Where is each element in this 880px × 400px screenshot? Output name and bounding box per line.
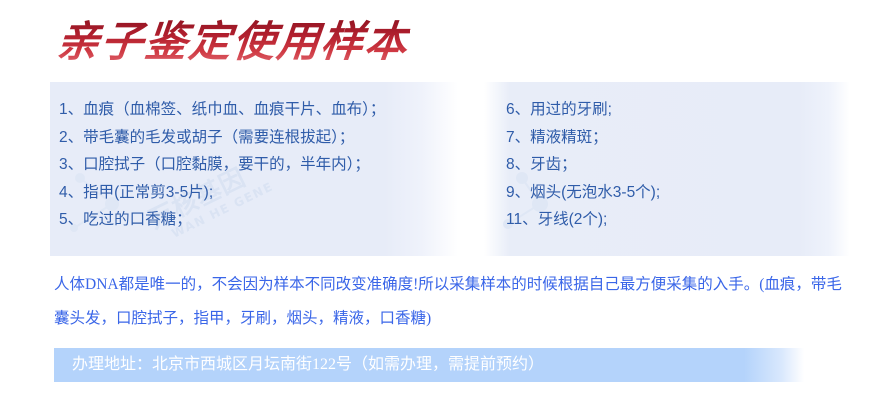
list-item: 7、精液精斑； xyxy=(506,124,850,152)
list-item: 2、带毛囊的毛发或胡子（需要连根拔起）； xyxy=(59,124,458,152)
list-item: 9、烟头(无泡水3-5个); xyxy=(506,179,850,207)
list-item: 11、牙线(2个); xyxy=(506,206,850,234)
address-banner: 办理地址：北京市西城区月坛南街122号（如需办理，需提前预约） xyxy=(54,348,804,382)
list-item: 4、指甲(正常剪3-5片); xyxy=(59,179,458,207)
list-item: 1、血痕（血棉签、纸巾血、血痕干片、血布）； xyxy=(59,96,458,124)
list-item: 3、口腔拭子（口腔黏膜，要干的，半年内）； xyxy=(59,151,458,179)
sample-list-right-content: 6、用过的牙刷; 7、精液精斑； 8、牙齿； 9、烟头(无泡水3-5个); 11… xyxy=(484,82,850,234)
sample-list-right-panel: 万核基因 WAN HE GENE 6、用过的牙刷; 7、精液精斑； 8、牙齿； … xyxy=(484,82,850,256)
list-item: 8、牙齿； xyxy=(506,151,850,179)
sample-list-left-content: 1、血痕（血棉签、纸巾血、血痕干片、血布）； 2、带毛囊的毛发或胡子（需要连根拔… xyxy=(50,82,458,234)
sample-lists: 万核基因 WAN HE GENE 1、血痕（血棉签、纸巾血、血痕干片、血布）； … xyxy=(0,82,880,256)
page-title: 亲子鉴定使用样本 xyxy=(54,16,411,68)
poster-root: 亲子鉴定使用样本 万核基因 WAN HE GENE 1、血痕（血棉签、纸巾血、血… xyxy=(0,0,880,400)
sample-list-left-panel: 万核基因 WAN HE GENE 1、血痕（血棉签、纸巾血、血痕干片、血布）； … xyxy=(50,82,458,256)
list-item: 6、用过的牙刷; xyxy=(506,96,850,124)
list-item: 5、吃过的口香糖； xyxy=(59,206,458,234)
address-text: 办理地址：北京市西城区月坛南街122号（如需办理，需提前预约） xyxy=(54,348,544,382)
dna-note-paragraph: 人体DNA都是唯一的，不会因为样本不同改变准确度!所以采集样本的时候根据自己最方… xyxy=(54,268,844,336)
